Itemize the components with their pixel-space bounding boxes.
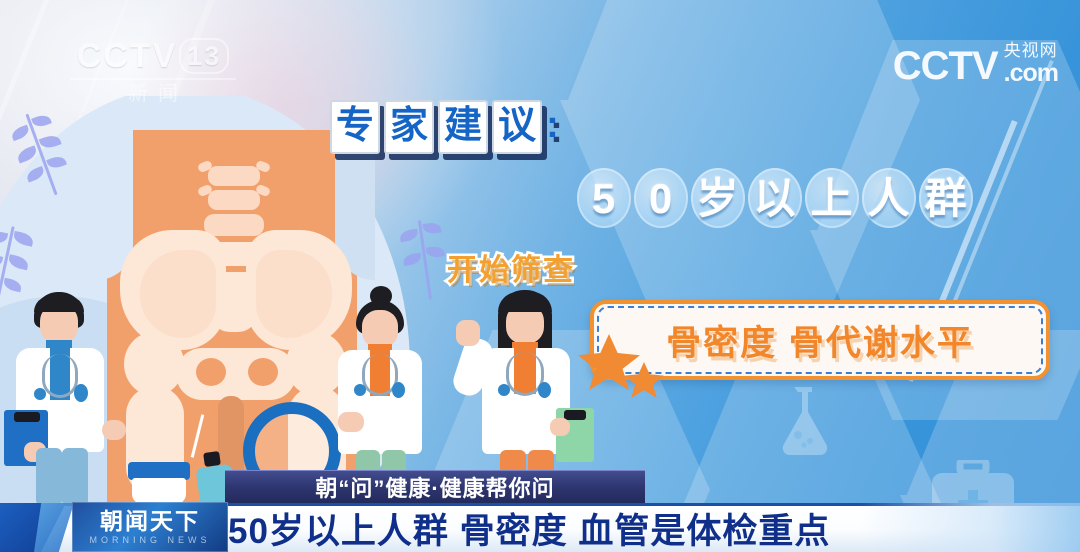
pubis <box>176 348 296 400</box>
cctv13-watermark: CCTV13 新闻 <box>58 36 248 118</box>
start-screening-label: 开始筛查 <box>447 245 575 289</box>
expert-advice-char-text: 建 <box>444 104 482 148</box>
test-items-callout: 骨密度 骨代谢水平 <box>590 300 1050 380</box>
age-group-char: 0 <box>632 166 689 232</box>
doctor-character-waving <box>470 290 580 495</box>
expert-advice-char-text: 专 <box>336 104 374 148</box>
expert-advice-char: 专 <box>330 100 380 154</box>
age-group-char: 以 <box>746 166 803 232</box>
cctv13-watermark-rule <box>70 78 236 80</box>
obturator-foramen-left <box>196 358 226 386</box>
vertebra <box>208 190 260 210</box>
headline-text: 50岁以上人群 骨密度 血管是体检重点 <box>228 504 830 552</box>
age-group-char-text: 人 <box>867 176 909 222</box>
expert-advice-char-text: 议 <box>498 104 536 148</box>
doctor-character-bun <box>330 292 430 492</box>
vertebra <box>208 166 260 186</box>
age-group-char: 人 <box>860 166 917 232</box>
cctv13-watermark-number: 13 <box>179 38 229 74</box>
doctor-character-male <box>6 292 114 507</box>
age-group-char-text: 群 <box>924 176 966 222</box>
age-group-char-text: 5 <box>592 176 615 222</box>
vertebra <box>204 214 264 236</box>
age-group-char: 群 <box>917 166 974 232</box>
expert-advice-char: 家 <box>384 100 434 154</box>
program-logo-en: MORNING NEWS <box>90 534 211 546</box>
cctv-com-watermark-main: CCTV <box>893 46 998 86</box>
subtitle-text: 朝“问”健康·健康帮你问 <box>315 471 554 503</box>
obturator-foramen-right <box>248 358 278 386</box>
ilium-inner-left <box>140 250 216 338</box>
cctv13-watermark-main: CCTV <box>77 37 178 75</box>
expert-advice-colon: : <box>546 100 559 154</box>
age-group-char-text: 岁 <box>696 176 738 222</box>
prop-bottle-cap <box>203 451 221 467</box>
expert-advice-char: 建 <box>438 100 488 154</box>
broadcast-screenshot: CCTV13 新闻 CCTV 央视网 .com 专 家 建 议 : 5 0 岁 … <box>0 0 1080 552</box>
program-logo: 朝闻天下 MORNING NEWS <box>72 502 228 552</box>
expert-advice-title: 专 家 建 议 : <box>330 100 559 154</box>
expert-advice-char-text: 家 <box>390 104 428 148</box>
cctv-com-watermark-domain: .com <box>1004 61 1058 86</box>
headline-bar-fade <box>860 503 1080 552</box>
age-group-char-text: 以 <box>753 176 795 222</box>
age-group-title: 5 0 岁 以 上 人 群 <box>575 166 974 232</box>
age-group-char-text: 0 <box>649 176 672 222</box>
expert-advice-char: 议 <box>492 100 542 154</box>
cctv-com-watermark-cn: 央视网 <box>1004 42 1058 59</box>
age-group-char-text: 上 <box>810 176 852 222</box>
cctv-com-watermark: CCTV 央视网 .com <box>893 42 1058 86</box>
prop-tube <box>132 478 186 504</box>
age-group-char: 5 <box>575 166 632 232</box>
subtitle-bar: 朝“问”健康·健康帮你问 <box>225 470 645 503</box>
age-group-char: 岁 <box>689 166 746 232</box>
test-items-text: 骨密度 骨代谢水平 <box>590 300 1050 380</box>
age-group-char: 上 <box>803 166 860 232</box>
cctv13-watermark-sub: 新闻 <box>58 83 248 105</box>
program-logo-cn: 朝闻天下 <box>100 509 200 534</box>
flask-icon <box>768 385 838 457</box>
